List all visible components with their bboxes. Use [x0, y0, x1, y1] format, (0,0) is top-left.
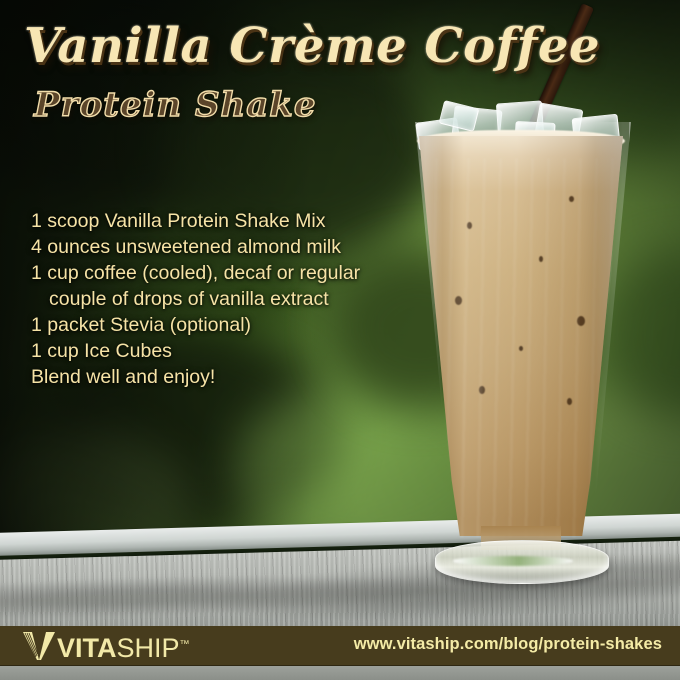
- trademark-symbol: ™: [180, 639, 190, 650]
- leaf-v-icon: [22, 631, 56, 661]
- website-url[interactable]: www.vitaship.com/blog/protein-shakes: [354, 635, 662, 654]
- ingredient-list: 1 scoop Vanilla Protein Shake Mix 4 ounc…: [31, 208, 431, 390]
- list-item: 1 cup Ice Cubes: [31, 338, 431, 364]
- brand-ship: SHIP: [117, 633, 180, 663]
- list-item: 1 packet Stevia (optional): [31, 312, 431, 338]
- list-item: Blend well and enjoy!: [31, 364, 431, 390]
- page-title: Vanilla Crème Coffee: [24, 22, 600, 70]
- footer-bar: VITASHIP™ www.vitaship.com/blog/protein-…: [0, 626, 680, 666]
- glass-foot: [435, 526, 607, 582]
- page-subtitle: Protein Shake: [34, 88, 316, 122]
- iced-coffee-glass: [405, 118, 637, 588]
- list-item: 4 ounces unsweetened almond milk: [31, 234, 431, 260]
- glass-wall: [415, 122, 631, 540]
- brand-wordmark: VITASHIP™: [57, 630, 190, 663]
- brand-vita: VITA: [57, 633, 117, 663]
- plank-below-footer: [0, 666, 680, 680]
- list-item: 1 cup coffee (cooled), decaf or regular: [31, 260, 431, 286]
- recipe-card: Vanilla Crème Coffee Protein Shake 1 sco…: [0, 0, 680, 680]
- list-item: couple of drops of vanilla extract: [31, 286, 431, 312]
- list-item: 1 scoop Vanilla Protein Shake Mix: [31, 208, 431, 234]
- brand-logo[interactable]: VITASHIP™: [22, 630, 190, 662]
